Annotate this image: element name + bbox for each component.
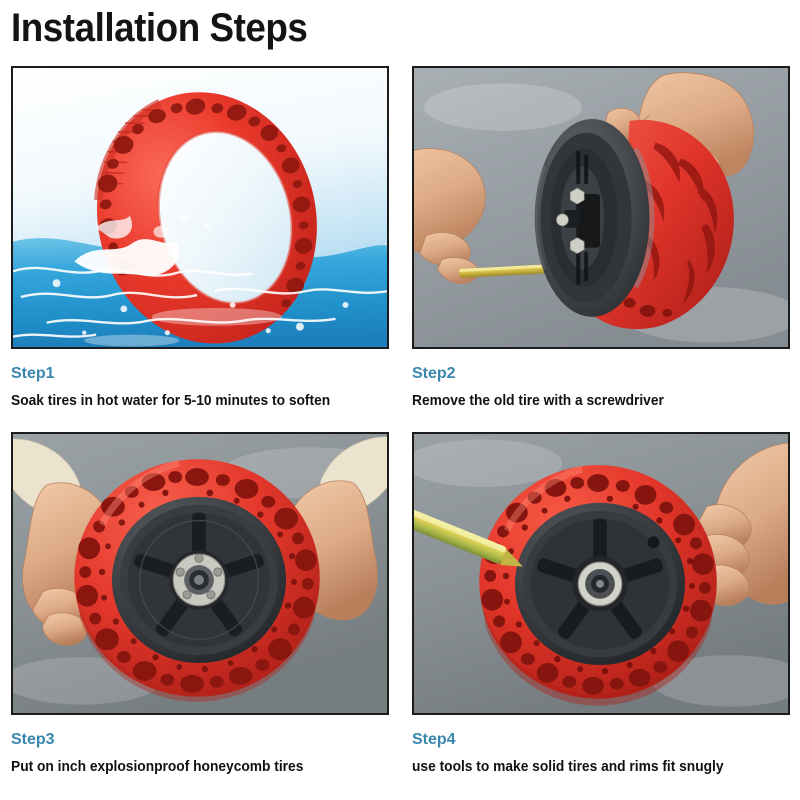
step-card-3: Step3 Put on inch explosionproof honeyco…: [11, 432, 389, 775]
step-label-3: Step3: [11, 732, 389, 748]
step-card-4: Step4 use tools to make solid tires and …: [412, 432, 790, 775]
step-card-2: Step2 Remove the old tire with a screwdr…: [412, 66, 790, 409]
step-card-1: Step1 Soak tires in hot water for 5-10 m…: [11, 66, 389, 409]
step-label-4: Step4: [412, 732, 790, 748]
step-caption-3: Put on inch explosionproof honeycomb tir…: [11, 760, 370, 775]
page-title: Installation Steps: [11, 6, 307, 51]
seating-tire-with-lever-photo: [412, 432, 790, 715]
removing-tire-with-screwdriver-photo: [412, 66, 790, 349]
tire-in-water-photo: [11, 66, 389, 349]
installation-steps-page: Installation Steps: [0, 0, 800, 800]
step-caption-4: use tools to make solid tires and rims f…: [412, 760, 771, 775]
step-label-1: Step1: [11, 366, 389, 382]
step-caption-1: Soak tires in hot water for 5-10 minutes…: [11, 394, 370, 409]
step-label-2: Step2: [412, 366, 790, 382]
step-caption-2: Remove the old tire with a screwdriver: [412, 394, 771, 409]
mounted-honeycomb-tire-photo: [11, 432, 389, 715]
steps-grid: Step1 Soak tires in hot water for 5-10 m…: [0, 66, 800, 800]
